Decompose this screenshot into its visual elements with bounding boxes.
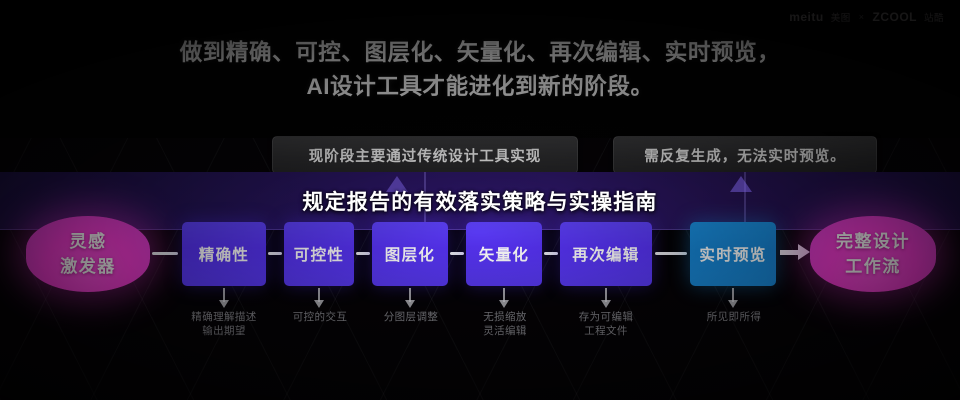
- connector-dash-3: [450, 252, 464, 255]
- flow-node-4[interactable]: 矢量化: [466, 222, 542, 286]
- down-arrow-icon-4: [499, 300, 509, 308]
- flow-node-end-line-2: 工作流: [845, 254, 901, 279]
- flow-caption-5: 存为可编辑 工程文件: [552, 310, 660, 338]
- flow-caption-6: 所见即所得: [682, 310, 786, 324]
- slide-canvas: meitu 美图 × ZCOOL 站酷 做到精确、可控、图层化、矢量化、再次编辑…: [0, 0, 960, 400]
- flow-caption-3: 分图层调整: [364, 310, 458, 324]
- flow-node-start[interactable]: 灵感 激发器: [26, 216, 150, 292]
- connector-dash-4: [544, 252, 558, 255]
- flow-caption-4: 无损缩放 灵活编辑: [458, 310, 552, 338]
- down-arrow-icon-5: [601, 300, 611, 308]
- down-arrow-icon-1: [219, 300, 229, 308]
- flow-node-6-label: 实时预览: [699, 243, 766, 265]
- connector-dash-5: [655, 252, 687, 255]
- connector-dash-2: [356, 252, 370, 255]
- flow-node-5[interactable]: 再次编辑: [560, 222, 652, 286]
- flow-node-3[interactable]: 图层化: [372, 222, 448, 286]
- flow-node-end[interactable]: 完整设计 工作流: [810, 216, 936, 292]
- down-arrow-icon-3: [405, 300, 415, 308]
- flow-node-1-label: 精确性: [199, 243, 249, 265]
- flow-node-start-line-1: 灵感: [70, 229, 107, 254]
- arrow-to-end-shaft: [780, 250, 800, 255]
- flow-node-2-label: 可控性: [294, 243, 344, 265]
- flow-node-4-label: 矢量化: [479, 243, 529, 265]
- flow-node-2[interactable]: 可控性: [284, 222, 354, 286]
- flow-node-1[interactable]: 精确性: [182, 222, 266, 286]
- down-arrow-icon-6: [728, 300, 738, 308]
- flow-node-6[interactable]: 实时预览: [690, 222, 776, 286]
- overlay-banner-title: 规定报告的有效落实策略与实操指南: [0, 186, 960, 216]
- flow-caption-2: 可控的交互: [274, 310, 366, 324]
- flow-node-5-label: 再次编辑: [572, 243, 639, 265]
- arrow-right-icon: [798, 244, 810, 260]
- flow-caption-1: 精确理解描述 输出期望: [174, 310, 274, 338]
- connector-dash-0: [152, 252, 178, 255]
- down-arrow-icon-2: [314, 300, 324, 308]
- flow-node-start-line-2: 激发器: [60, 254, 116, 279]
- flow-node-3-label: 图层化: [385, 243, 435, 265]
- connector-dash-1: [268, 252, 282, 255]
- flow-node-end-line-1: 完整设计: [836, 229, 910, 254]
